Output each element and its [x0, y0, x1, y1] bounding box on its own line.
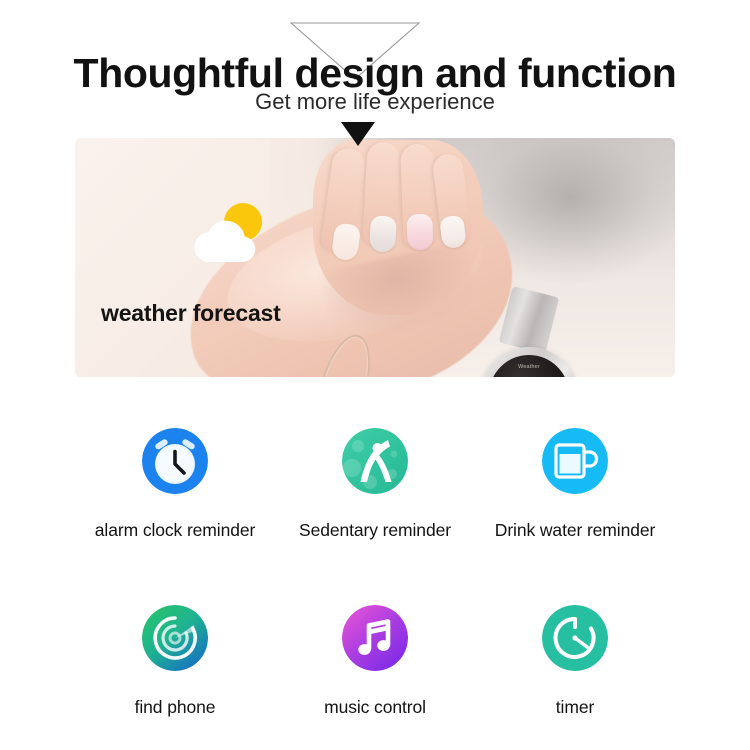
feature-item-drink-water-reminder[interactable]: Drink water reminder: [475, 428, 675, 573]
banner-caption: weather forecast: [101, 300, 281, 327]
page-header: Thoughtful design and function Get more …: [0, 0, 750, 140]
page-subtitle: Get more life experience: [0, 89, 750, 115]
product-feature-page: Thoughtful design and function Get more …: [0, 0, 750, 750]
feature-label: timer: [556, 697, 594, 718]
feature-grid: alarm clock reminder: [75, 420, 675, 740]
feature-label: Drink water reminder: [495, 520, 655, 541]
feature-label: find phone: [135, 697, 216, 718]
watch-screen-label: Weather: [489, 364, 569, 370]
triangle-solid-icon: [341, 122, 375, 146]
music-note-icon: [342, 605, 408, 671]
feature-row: alarm clock reminder: [75, 428, 675, 573]
watch-face: Weather 23 °C Cloudy Tue. 7/23: [489, 355, 569, 377]
alarm-clock-icon: [142, 428, 208, 494]
fingernail: [406, 214, 433, 251]
feature-row: find phone: [75, 605, 675, 750]
water-cup-icon: [542, 428, 608, 494]
feature-item-alarm-clock-reminder[interactable]: alarm clock reminder: [75, 428, 275, 573]
sun-behind-cloud-icon: [185, 200, 277, 272]
feature-item-sedentary-reminder[interactable]: Sedentary reminder: [275, 428, 475, 573]
smartwatch: Weather 23 °C Cloudy Tue. 7/23: [475, 333, 583, 377]
feature-item-music-control[interactable]: music control: [275, 605, 475, 750]
stretching-person-icon: [342, 428, 408, 494]
stopwatch-timer-icon: [542, 605, 608, 671]
watch-bezel: Weather 23 °C Cloudy Tue. 7/23: [481, 347, 577, 377]
radar-find-phone-icon: [142, 605, 208, 671]
feature-label: music control: [324, 697, 426, 718]
feature-label: Sedentary reminder: [299, 520, 451, 541]
weather-banner: Weather 23 °C Cloudy Tue. 7/23 weather f…: [75, 138, 675, 377]
fingernail: [369, 215, 397, 252]
feature-item-find-phone[interactable]: find phone: [75, 605, 275, 750]
feature-label: alarm clock reminder: [95, 520, 255, 541]
feature-item-timer[interactable]: timer: [475, 605, 675, 750]
